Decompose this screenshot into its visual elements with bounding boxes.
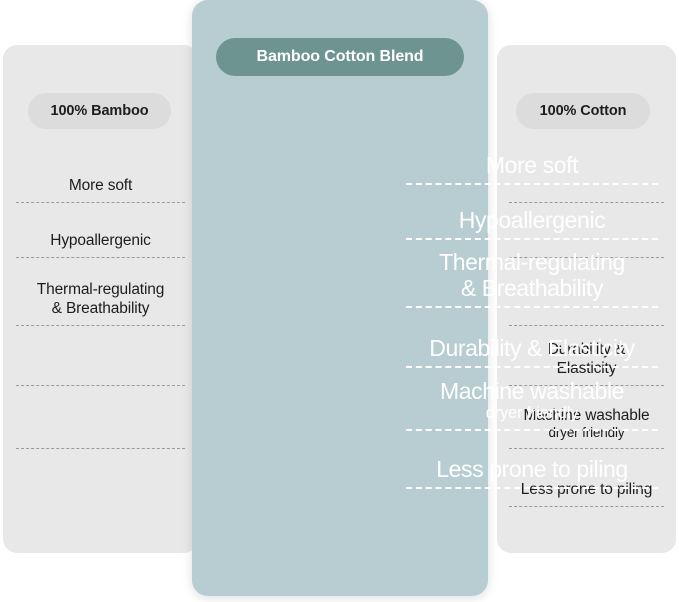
feature-label: Hypoallergenic: [50, 232, 150, 258]
feature-label-line1: Thermal-regulating: [37, 281, 164, 298]
feature-row: Thermal-regulating & Breathability: [16, 258, 185, 326]
column-badge-cotton: 100% Cotton: [516, 93, 650, 129]
feature-row: More soft: [406, 132, 658, 185]
feature-label-main: Machine washable: [440, 378, 624, 404]
feature-label-sub: dryer friendly: [440, 404, 624, 424]
feature-label: Machine washable dryer friendly: [440, 379, 624, 431]
feature-label: Thermal-regulating & Breathability: [439, 250, 625, 308]
feature-row: Less prone to piling: [406, 431, 658, 489]
feature-row: Machine washable dryer friendly: [406, 368, 658, 431]
column-badge-bamboo: 100% Bamboo: [28, 93, 171, 129]
comparison-infographic: 100% Bamboo More soft Hypoallergenic The…: [0, 0, 679, 602]
feature-row: Thermal-regulating & Breathability: [406, 240, 658, 308]
feature-row: Durability & Elasticity: [406, 308, 658, 368]
feature-label: Thermal-regulating & Breathability: [37, 281, 164, 326]
feature-row: Hypoallergenic: [406, 185, 658, 240]
feature-label-line2: & Breathability: [461, 275, 603, 301]
row-divider: [406, 487, 658, 489]
feature-row: [16, 326, 185, 386]
feature-label: Less prone to piling: [436, 457, 627, 489]
feature-label: Durability & Elasticity: [429, 336, 635, 368]
feature-list-blend: More soft Hypoallergenic Thermal-regulat…: [406, 132, 658, 489]
column-panel-blend-highlighted: Bamboo Cotton Blend More soft Hypoallerg…: [192, 0, 488, 596]
feature-row: Hypoallergenic: [16, 203, 185, 258]
feature-label-line2: & Breathability: [52, 300, 150, 317]
feature-list-bamboo: More soft Hypoallergenic Thermal-regulat…: [16, 150, 185, 507]
row-divider: [509, 506, 664, 507]
feature-label-line1: Thermal-regulating: [439, 249, 625, 275]
column-badge-blend: Bamboo Cotton Blend: [216, 38, 464, 76]
feature-label: Hypoallergenic: [459, 208, 606, 240]
feature-label: More soft: [69, 177, 132, 203]
feature-row: [16, 449, 185, 507]
feature-row: [16, 386, 185, 449]
feature-row: More soft: [16, 150, 185, 203]
feature-label: More soft: [486, 153, 578, 185]
